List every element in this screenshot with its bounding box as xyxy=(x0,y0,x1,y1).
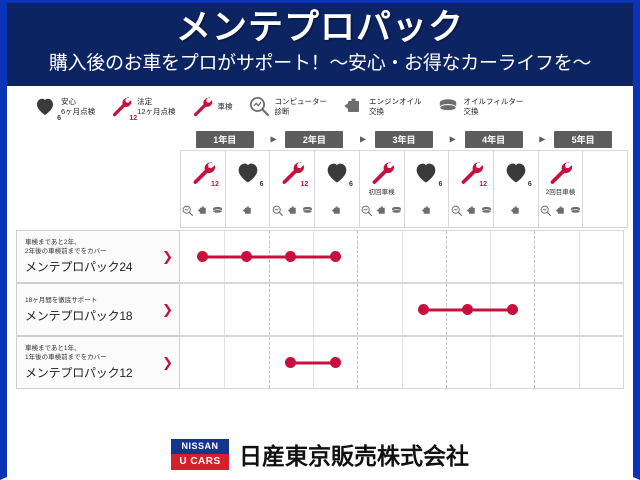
oil-filter-icon xyxy=(569,204,582,217)
coverage-dot-2 xyxy=(241,251,252,262)
package-label-1[interactable]: 車検まであと2年、2年後の車検前までをカバーメンテプロパック24❯ xyxy=(16,230,180,283)
legend-label-line1: 法定 xyxy=(137,97,175,107)
service-cell-1: 12 xyxy=(181,150,226,228)
package-desc-line1: 18ヶ月間を徹底サポート xyxy=(25,296,159,305)
package-row-1[interactable]: 車検まであと2年、2年後の車検前までをカバーメンテプロパック24❯ xyxy=(16,230,624,283)
service-cell-6: 6 xyxy=(405,150,450,228)
package-row-3[interactable]: 車検まであと1年、1年後の車検前までをカバーメンテプロパック12❯ xyxy=(16,336,624,389)
legend-label: オイルフィルター交換 xyxy=(464,97,524,117)
magnifier-icon xyxy=(450,204,463,217)
service-icon-row: 126126初回車検61262回目車検 xyxy=(180,150,628,228)
legend-label: エンジンオイル交換 xyxy=(369,97,422,117)
service-sub-icons xyxy=(450,202,493,218)
coverage-dot-1 xyxy=(285,357,296,368)
coverage-dot-2 xyxy=(330,357,341,368)
oil-can-icon xyxy=(375,204,388,217)
service-sub-icons xyxy=(241,202,254,218)
service-badge: 6 xyxy=(349,181,353,188)
grid-spacer xyxy=(16,128,180,228)
package-desc-line1: 車検まであと2年、 xyxy=(25,238,159,247)
service-main-icon: 12 xyxy=(189,157,217,187)
legend-label-line1: オイルフィルター xyxy=(464,97,524,107)
service-sub-icons xyxy=(420,202,433,218)
timeline-grid: 1年目▶2年目▶3年目▶4年目▶5年目 126126初回車検61262回目車検 xyxy=(16,128,628,228)
service-cell-3: 12 xyxy=(270,150,315,228)
oil-filter-icon xyxy=(480,204,493,217)
wrench-icon: 12 xyxy=(109,94,135,120)
coverage-dot-1 xyxy=(418,304,429,315)
legend-label-line1: エンジンオイル xyxy=(369,97,422,107)
legend-label-line2: 交換 xyxy=(369,107,422,117)
magnifier-icon xyxy=(247,94,273,120)
service-cell-7: 12 xyxy=(449,150,494,228)
gridline-2 xyxy=(269,284,270,335)
year-label-3: 3年目 xyxy=(375,131,433,148)
service-label-5: 初回車検 xyxy=(369,187,395,198)
service-main-icon: 6 xyxy=(412,157,440,187)
legend-item-4: コンピューター診断 xyxy=(247,94,328,120)
package-text: 車検まであと2年、2年後の車検前までをカバーメンテプロパック24 xyxy=(25,238,159,275)
chevron-right-icon[interactable]: ❯ xyxy=(159,355,173,371)
legend-label-line2: 診断 xyxy=(275,107,328,117)
timeline-chart: 1年目▶2年目▶3年目▶4年目▶5年目 126126初回車検61262回目車検 … xyxy=(7,128,633,389)
service-sub-icons xyxy=(271,202,314,218)
package-track-1 xyxy=(180,230,624,283)
package-track-3 xyxy=(180,336,624,389)
coverage-span xyxy=(291,361,335,364)
oil-filter-icon xyxy=(301,204,314,217)
service-sub-icons xyxy=(539,202,582,218)
legend-label: 車検 xyxy=(218,102,233,112)
oil-filter-icon xyxy=(436,94,462,120)
package-text: 車検まであと1年、1年後の車検前までをカバーメンテプロパック12 xyxy=(25,344,159,381)
oil-can-icon xyxy=(554,204,567,217)
gridline-6 xyxy=(446,337,447,388)
legend-label-line2: 6ヶ月点検 xyxy=(61,107,95,117)
oil-filter-icon xyxy=(211,204,224,217)
gridline-9 xyxy=(579,284,580,335)
service-sub-icons xyxy=(360,202,403,218)
gridline-6 xyxy=(446,231,447,282)
package-desc-line2: 1年後の車検前までをカバー xyxy=(25,353,159,362)
heart-icon: 6 xyxy=(33,94,59,120)
legend-badge: 12 xyxy=(129,115,137,122)
service-cell-2: 6 xyxy=(226,150,271,228)
service-sub-icons xyxy=(509,202,522,218)
legend-item-2: 12法定12ヶ月点検 xyxy=(109,94,175,120)
service-badge: 12 xyxy=(300,181,308,188)
service-cell-4: 6 xyxy=(315,150,360,228)
legend-item-5: エンジンオイル交換 xyxy=(341,94,422,120)
year-label-5: 5年目 xyxy=(554,131,612,148)
coverage-dot-2 xyxy=(462,304,473,315)
legend-label-line2: 12ヶ月点検 xyxy=(137,107,175,117)
nissan-ucars-logo: NISSAN U CARS xyxy=(171,439,229,470)
coverage-dot-1 xyxy=(197,251,208,262)
legend-label-line1: 安心 xyxy=(61,97,95,107)
chevron-right-icon[interactable]: ❯ xyxy=(159,302,173,318)
year-label-4: 4年目 xyxy=(465,131,523,148)
heart-icon: 6 xyxy=(502,158,530,186)
wrench-icon: 12 xyxy=(189,158,217,186)
wrench-icon xyxy=(190,94,216,120)
wrench-icon: 12 xyxy=(457,158,485,186)
oil-can-icon xyxy=(241,204,254,217)
company-name: 日産東京販売株式会社 xyxy=(239,437,469,471)
package-rows: 車検まであと2年、2年後の車検前までをカバーメンテプロパック24❯18ヶ月間を徹… xyxy=(16,230,624,389)
service-sub-icons xyxy=(181,202,224,218)
service-cell-8: 6 xyxy=(494,150,539,228)
service-main-icon: 12 xyxy=(457,157,485,187)
year-band: 1年目▶2年目▶3年目▶4年目▶5年目 xyxy=(180,128,628,150)
service-main-icon: 6 xyxy=(234,157,262,187)
package-label-3[interactable]: 車検まであと1年、1年後の車検前までをカバーメンテプロパック12❯ xyxy=(16,336,180,389)
gridline-4 xyxy=(357,231,358,282)
service-badge: 12 xyxy=(211,181,219,188)
wrench-icon xyxy=(546,158,574,186)
package-row-2[interactable]: 18ヶ月間を徹底サポートメンテプロパック18❯ xyxy=(16,283,624,336)
service-label-9: 2回目車検 xyxy=(546,187,576,198)
gridline-1 xyxy=(224,337,225,388)
package-desc-line1: 車検まであと1年、 xyxy=(25,344,159,353)
gridline-2 xyxy=(269,337,270,388)
wrench-icon: 12 xyxy=(278,158,306,186)
magnifier-icon xyxy=(360,204,373,217)
package-desc-line2: 2年後の車検前までをカバー xyxy=(25,247,159,256)
chevron-right-icon[interactable]: ❯ xyxy=(159,249,173,265)
service-sub-icons xyxy=(330,202,343,218)
legend-item-1: 6安心6ヶ月点検 xyxy=(33,94,95,120)
page-footer: NISSAN U CARS 日産東京販売株式会社 xyxy=(7,437,633,471)
gridline-9 xyxy=(579,231,580,282)
gridline-4 xyxy=(357,284,358,335)
year-cell-3: 3年目▶ xyxy=(359,131,449,148)
year-cell-5: 5年目 xyxy=(538,131,628,148)
magnifier-icon xyxy=(539,204,552,217)
heart-icon: 6 xyxy=(323,158,351,186)
gridline-5 xyxy=(402,284,403,335)
timeline-columns: 1年目▶2年目▶3年目▶4年目▶5年目 126126初回車検61262回目車検 xyxy=(180,128,628,228)
year-cell-4: 4年目▶ xyxy=(449,131,539,148)
coverage-dot-3 xyxy=(285,251,296,262)
coverage-dot-4 xyxy=(330,251,341,262)
package-name: メンテプロパック12 xyxy=(25,364,159,381)
package-name: メンテプロパック18 xyxy=(25,307,159,324)
service-main-icon: 6 xyxy=(502,157,530,187)
oil-can-icon xyxy=(330,204,343,217)
wrench-icon xyxy=(368,158,396,186)
heart-icon: 6 xyxy=(234,158,262,186)
legend-item-3: 車検 xyxy=(190,94,233,120)
oil-can-icon xyxy=(465,204,478,217)
year-arrow-4: ▶ xyxy=(539,135,545,144)
service-badge: 6 xyxy=(438,181,442,188)
year-cell-1: 1年目▶ xyxy=(180,131,270,148)
package-name: メンテプロパック24 xyxy=(25,258,159,275)
service-cell-5: 初回車検 xyxy=(360,150,405,228)
legend-label-line1: 車検 xyxy=(218,102,233,112)
service-main-icon: 12 xyxy=(278,157,306,187)
gridline-1 xyxy=(224,284,225,335)
oil-can-icon xyxy=(196,204,209,217)
gridline-9 xyxy=(579,337,580,388)
gridline-7 xyxy=(490,231,491,282)
legend-label: コンピューター診断 xyxy=(275,97,328,117)
page-title: メンテプロパック xyxy=(7,5,633,50)
nissan-wordmark: NISSAN xyxy=(171,439,229,454)
service-main-icon: 6 xyxy=(323,157,351,187)
service-badge: 12 xyxy=(479,181,487,188)
magnifier-icon xyxy=(181,204,194,217)
oil-can-icon xyxy=(509,204,522,217)
oil-can-icon xyxy=(286,204,299,217)
gridline-5 xyxy=(402,337,403,388)
gridline-8 xyxy=(534,337,535,388)
service-badge: 6 xyxy=(528,181,532,188)
oil-can-icon xyxy=(420,204,433,217)
oil-filter-icon xyxy=(390,204,403,217)
package-label-2[interactable]: 18ヶ月間を徹底サポートメンテプロパック18❯ xyxy=(16,283,180,336)
gridline-8 xyxy=(534,284,535,335)
year-label-2: 2年目 xyxy=(285,131,343,148)
legend-label: 安心6ヶ月点検 xyxy=(61,97,95,117)
service-main-icon xyxy=(546,157,574,187)
oil-can-icon xyxy=(341,94,367,120)
gridline-8 xyxy=(534,231,535,282)
gridline-3 xyxy=(313,284,314,335)
year-label-1: 1年目 xyxy=(196,131,254,148)
legend-badge: 6 xyxy=(57,115,61,122)
legend-label-line1: コンピューター xyxy=(275,97,328,107)
service-main-icon xyxy=(368,157,396,187)
page-subtitle: 購入後のお車をプロがサポート！～安心・お得なカーライフを～ xyxy=(7,50,633,78)
service-badge: 6 xyxy=(260,181,264,188)
coverage-dot-3 xyxy=(507,304,518,315)
legend-label: 法定12ヶ月点検 xyxy=(137,97,175,117)
page-header: メンテプロパック 購入後のお車をプロがサポート！～安心・お得なカーライフを～ xyxy=(7,3,633,86)
legend-label-line2: 交換 xyxy=(464,107,524,117)
service-cell-9: 2回目車検 xyxy=(539,150,584,228)
service-cell-10 xyxy=(583,150,628,228)
package-track-2 xyxy=(180,283,624,336)
package-text: 18ヶ月間を徹底サポートメンテプロパック18 xyxy=(25,296,159,324)
legend-bar: 6安心6ヶ月点検12法定12ヶ月点検車検コンピューター診断エンジンオイル交換オイ… xyxy=(7,86,633,128)
gridline-7 xyxy=(490,337,491,388)
year-cell-2: 2年目▶ xyxy=(270,131,360,148)
gridline-4 xyxy=(357,337,358,388)
legend-item-6: オイルフィルター交換 xyxy=(436,94,524,120)
magnifier-icon xyxy=(271,204,284,217)
heart-icon: 6 xyxy=(412,158,440,186)
ucars-wordmark: U CARS xyxy=(171,454,229,470)
gridline-5 xyxy=(402,231,403,282)
coverage-span xyxy=(202,255,335,258)
infographic-page: メンテプロパック 購入後のお車をプロがサポート！～安心・お得なカーライフを～ 6… xyxy=(0,0,640,480)
